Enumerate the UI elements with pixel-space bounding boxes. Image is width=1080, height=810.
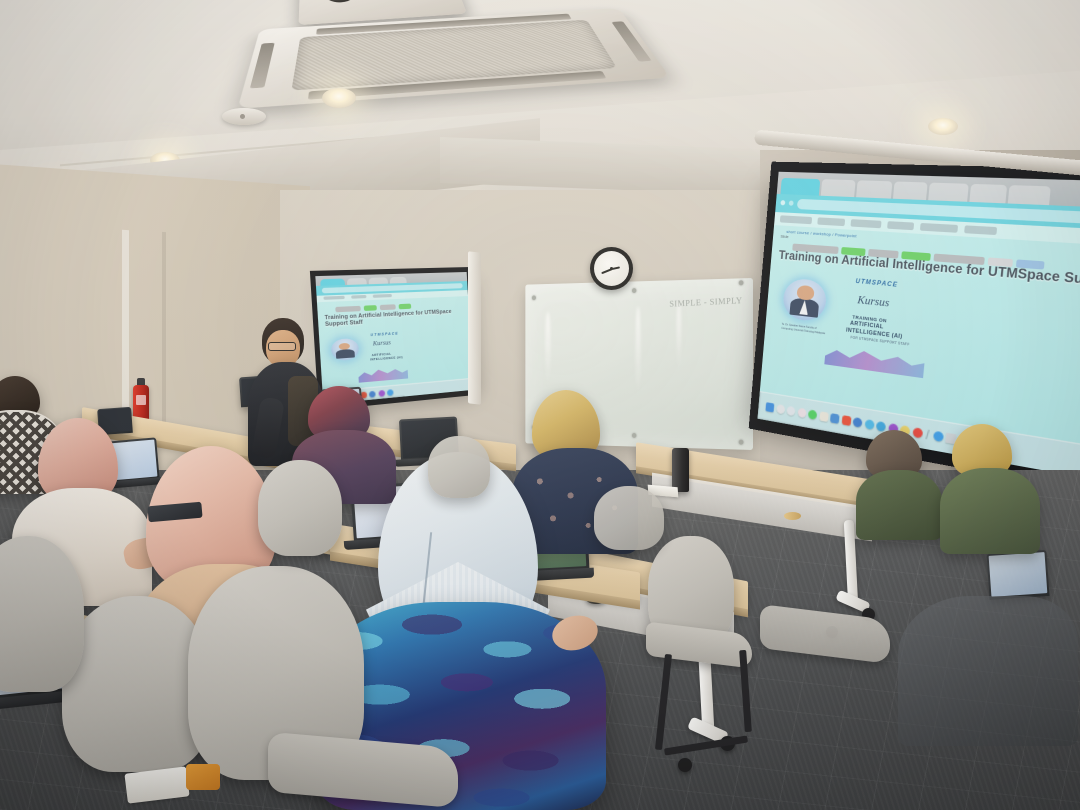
- side-screen-edge: [468, 251, 481, 405]
- browser-tab[interactable]: [893, 182, 928, 201]
- bookmark-item[interactable]: [920, 223, 958, 233]
- presenter-glasses-icon: [268, 342, 296, 351]
- recorder-icon[interactable]: [912, 427, 923, 438]
- wall-clock: [590, 247, 633, 290]
- clock-hour-hand-icon: [612, 266, 620, 270]
- dock-separator-icon: [926, 430, 930, 440]
- office-chair-back[interactable]: [428, 436, 490, 498]
- whiteboard-stud: [632, 433, 636, 438]
- poster-artwork: [358, 365, 408, 383]
- action-button[interactable]: [399, 303, 411, 309]
- office-chair-back[interactable]: [594, 486, 664, 550]
- launchpad-icon[interactable]: [776, 404, 785, 414]
- poster-artwork: [824, 343, 925, 379]
- poster-script-word: Kursus: [373, 341, 391, 348]
- whiteboard-glare: [545, 312, 551, 385]
- utmspace-logo: UTMSPACE: [370, 332, 398, 338]
- whiteboard-stud: [739, 440, 744, 445]
- whiteboard-glare: [677, 304, 682, 370]
- bookmark-item[interactable]: [887, 221, 914, 230]
- browser-tab[interactable]: [368, 277, 387, 285]
- small-object[interactable]: [186, 764, 220, 790]
- laptop[interactable]: [986, 550, 1049, 600]
- action-button[interactable]: [380, 304, 397, 310]
- messages-icon[interactable]: [808, 409, 817, 420]
- whiteboard-glare: [635, 306, 640, 394]
- finder-icon[interactable]: [765, 402, 774, 412]
- chair-shadow: [898, 596, 1078, 746]
- side-course-poster: UTMSPACE Kursus ARTIFICIAL INTELLIGENCE …: [328, 327, 421, 386]
- utmspace-logo: UTMSPACE: [855, 278, 898, 288]
- browser-tab[interactable]: [820, 179, 855, 197]
- browser-tab[interactable]: [969, 184, 1007, 204]
- forward-icon[interactable]: [789, 201, 794, 206]
- acrobat-icon[interactable]: [841, 415, 851, 426]
- speaker-torso: [335, 349, 354, 359]
- poster-script-word: Kursus: [857, 294, 890, 310]
- water-bottle[interactable]: [672, 448, 689, 492]
- browser-tab[interactable]: [389, 276, 406, 284]
- bookmark-item[interactable]: [850, 219, 882, 228]
- extinguisher-label: [136, 395, 146, 405]
- ceiling-downlight: [322, 88, 356, 108]
- fire-extinguisher: [133, 378, 149, 422]
- mail-icon[interactable]: [830, 413, 840, 424]
- speaker-photo: [782, 278, 828, 323]
- clock-face: [594, 251, 629, 286]
- participant-torso: [856, 470, 942, 540]
- back-icon[interactable]: [780, 201, 785, 206]
- office-chair-back[interactable]: [258, 460, 342, 556]
- wall-panel-seam: [162, 232, 166, 432]
- breadcrumb-item-workshop[interactable]: workshop: [813, 231, 831, 237]
- browser-tab[interactable]: [929, 183, 969, 202]
- word-icon[interactable]: [369, 390, 376, 397]
- telegram-icon[interactable]: [876, 421, 886, 432]
- action-button[interactable]: [364, 305, 377, 311]
- bookmark-item[interactable]: [817, 217, 845, 226]
- smoke-detector: [222, 108, 266, 125]
- laptop-screen[interactable]: [989, 552, 1047, 596]
- bookmark-item[interactable]: [373, 294, 391, 298]
- training-room-photo: SIMPLE - SIMPLY: [0, 0, 1080, 810]
- podcast-icon[interactable]: [378, 390, 385, 397]
- bookmark-item[interactable]: [780, 215, 812, 224]
- notes-icon[interactable]: [819, 411, 829, 422]
- clock-center-pin: [610, 267, 613, 270]
- poster-line-3: INTELLIGENCE (AI): [370, 355, 403, 362]
- zoom-icon[interactable]: [387, 389, 394, 396]
- browser-tab[interactable]: [1008, 185, 1052, 205]
- ceiling-downlight: [928, 118, 958, 135]
- browser-tab[interactable]: [856, 181, 893, 199]
- table-caster: [678, 758, 692, 772]
- zoom-icon[interactable]: [933, 430, 944, 442]
- smoke-detector-led-icon: [240, 114, 245, 119]
- browser-tab[interactable]: [780, 178, 819, 196]
- projector-lens-icon: [323, 0, 358, 3]
- small-object[interactable]: [784, 512, 801, 520]
- excel-icon[interactable]: [864, 419, 874, 430]
- participant-torso: [940, 468, 1040, 554]
- poster-speaker-block: Ts. Dr. Speaker Name Faculty of Computin…: [781, 322, 826, 335]
- safari-icon[interactable]: [786, 406, 795, 416]
- photos-icon[interactable]: [797, 407, 806, 418]
- side-projection-screen[interactable]: Training on Artificial Intelligence for …: [315, 272, 473, 404]
- bookmark-item[interactable]: [323, 296, 344, 300]
- course-poster: UTMSPACE Kursus TRAINING ON ARTIFICIAL I…: [776, 266, 960, 380]
- word-icon[interactable]: [853, 417, 863, 428]
- browser-tab[interactable]: [347, 278, 367, 286]
- bookmark-item[interactable]: [964, 225, 997, 235]
- browser-tab[interactable]: [320, 278, 345, 286]
- speaker-photo: [330, 338, 359, 361]
- bookmark-item[interactable]: [351, 295, 367, 299]
- side-browser-window: Training on Artificial Intelligence for …: [315, 272, 473, 404]
